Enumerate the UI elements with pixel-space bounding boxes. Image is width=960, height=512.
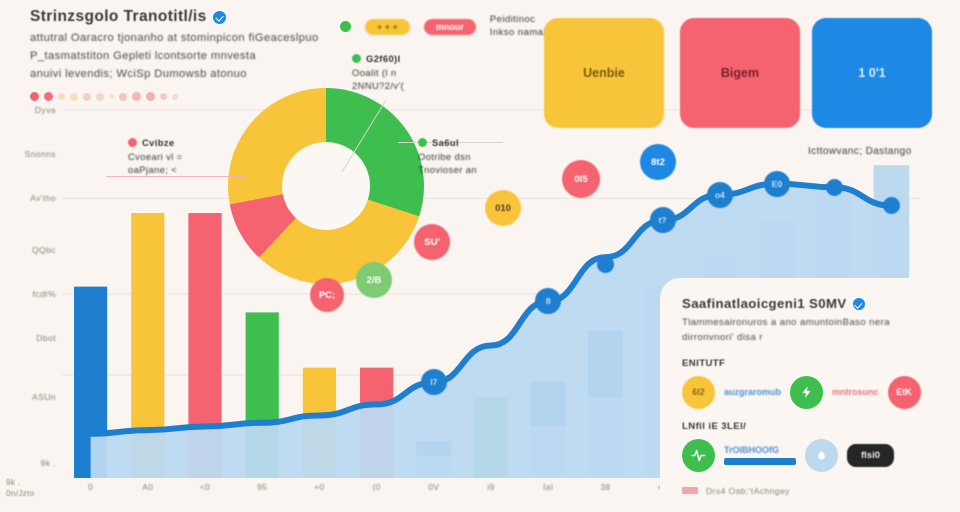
page-title-text: Strinzsgolo Tranotitl/is	[30, 8, 207, 26]
dot-strip-item-8	[132, 92, 141, 101]
dot-strip-item-3	[70, 93, 78, 101]
annotation-bubble-0[interactable]: PC;	[310, 278, 344, 312]
y-tick-label-6: ASUn	[32, 392, 56, 402]
dot-strip-item-4	[83, 93, 91, 101]
kpi-card-yellow[interactable]: Uenbie	[544, 18, 664, 128]
chip-coral[interactable]: EtK	[888, 376, 921, 409]
x-tick-label-9: 38	[600, 482, 610, 492]
x-tick-label-0: 0	[88, 482, 93, 492]
donut-callout-right-title: Sa6ul	[432, 136, 459, 150]
y-tick-label-0: Dyva	[35, 105, 56, 115]
donut-callout-right-header: Sa6ul	[418, 136, 543, 150]
donut-callout-left-line-2: oaPjane; <	[128, 163, 248, 177]
donut-callout-left-title: Cvibze	[142, 136, 175, 150]
y-tick-label-5: Dbot	[36, 333, 56, 343]
page-title: Strinzsgolo Tranotitl/is	[30, 8, 330, 26]
x-tick-label-1: A0	[142, 482, 153, 492]
verified-check-icon	[853, 298, 865, 310]
donut-callout-top-line-2: 2NNU?2/v'(	[352, 79, 462, 93]
summary-group-2-label: LNfil iE 3LEl/	[682, 421, 928, 432]
kpi-card-blue[interactable]: 1 0'1	[812, 18, 932, 128]
donut-callout-right-line-1: Ootribe dsn	[418, 150, 543, 164]
dashboard-canvas: DyvaSnonnsAv'thoQQbcfcdt%DbotASUn9k . 9k…	[0, 0, 960, 512]
annotation-bubble-2[interactable]: SU'	[414, 224, 450, 260]
dot-strip-item-11	[172, 94, 178, 100]
dot-strip-item-10	[160, 93, 167, 100]
x-tick-label-4: +0	[314, 482, 324, 492]
summary-card-title: Saafinatlaoicgeni1 S0MV	[682, 296, 928, 311]
dot-strip-item-0	[30, 92, 39, 101]
header-subtitle-line-1: attutral Oaracro tjonanho at stominpicon…	[30, 32, 330, 44]
tag-dark[interactable]: flsi0	[847, 444, 894, 467]
summary-group-1-row: 6I2auzgraromubmntrosuncEtK	[682, 376, 928, 409]
kpi-caption: Icttowvanc; Dastango	[808, 146, 912, 157]
y-tick-label-4: fcdt%	[33, 289, 57, 299]
annotation-bubble-5[interactable]: 8t2	[640, 144, 676, 180]
summary-group-2-row: TrOIBHOOfGflsi0	[682, 439, 928, 472]
annotation-bubble-3[interactable]: 010	[485, 190, 521, 226]
x-tick-label-3: 95	[257, 482, 267, 492]
dot-strip	[30, 92, 178, 101]
legend-text: Peiditinoc Inkso nama2	[490, 14, 549, 40]
y-tick-label-3: QQbc	[32, 245, 56, 255]
chip-green-bolt[interactable]	[790, 376, 823, 409]
dot-strip-item-7	[119, 93, 127, 101]
annotation-bubble-1[interactable]: 2/B	[356, 262, 392, 298]
y-tick-label-7: 9k .	[41, 458, 56, 468]
x-tick-label-2: <0	[200, 482, 210, 492]
legend-row: + + + mnour Peiditinoc Inkso nama2	[340, 14, 549, 40]
header-subtitle-line-2: P_tasmatstiton Gepleti lcontsorte mnvest…	[30, 50, 330, 62]
chip-green-pulse[interactable]	[682, 439, 715, 472]
donut-callout-top-title: G2f60)l	[366, 52, 401, 66]
donut-callout-left: Cvibze Cvoeari vl = oaPjane; <	[128, 136, 248, 177]
legend-text-line-1: Peiditinoc	[490, 14, 549, 27]
trend-marker-7[interactable]	[883, 197, 900, 214]
x-tick-label-7: i9	[487, 482, 494, 492]
dot-strip-item-5	[96, 93, 104, 101]
chip-label-blue: auzgraromub	[724, 387, 781, 397]
chip-lightblue-drop[interactable]	[805, 439, 838, 472]
summary-card-footer: Drs4 Oab;'tAchngey	[682, 486, 928, 496]
y-tick-label-1: Snonns	[24, 149, 56, 159]
summary-card-title-text: Saafinatlaoicgeni1 S0MV	[682, 296, 847, 311]
progress-label: TrOIBHOOfG	[724, 445, 796, 455]
donut-callout-leader-top	[340, 94, 410, 174]
summary-card: Saafinatlaoicgeni1 S0MV Tlammesaironuros…	[660, 278, 950, 502]
donut-callout-top: G2f60)l Ooalit (l n 2NNU?2/v'(	[352, 52, 462, 93]
progress-meter[interactable]: TrOIBHOOfG	[724, 445, 796, 465]
x-axis-caption: 9k .0n/Jzto	[6, 478, 35, 500]
x-tick-label-5: (0	[372, 482, 380, 492]
dot-strip-item-9	[146, 92, 155, 101]
y-tick-label-2: Av'tho	[30, 193, 56, 203]
donut-callout-right-dot	[418, 138, 427, 147]
chip-yellow[interactable]: 6I2	[682, 376, 715, 409]
summary-group-1-label: ENITUTF	[682, 358, 928, 369]
donut-callout-right: Sa6ul Ootribe dsn Tnovioser an	[418, 136, 543, 177]
trend-marker-6[interactable]	[826, 179, 843, 196]
donut-callout-top-dot	[352, 54, 361, 63]
dot-strip-item-1	[44, 92, 53, 101]
footer-text: Drs4 Oab;'tAchngey	[706, 486, 790, 496]
header-subtitle-line-3: anuivi levendis; WciSp Dumowsb atonuo	[30, 68, 330, 80]
y-axis-labels: DyvaSnonnsAv'thoQQbcfcdt%DbotASUn9k .	[8, 110, 60, 478]
progress-fill	[724, 458, 796, 465]
donut-callout-right-line-2: Tnovioser an	[418, 163, 543, 177]
kpi-card-coral[interactable]: Bigem	[680, 18, 800, 128]
trend-marker-0[interactable]: l7	[421, 369, 447, 395]
trend-marker-5[interactable]: E0	[764, 171, 790, 197]
trend-marker-2[interactable]	[597, 256, 614, 273]
donut-callout-top-line-1: Ooalit (l n	[352, 66, 462, 80]
legend-dot-green	[340, 21, 351, 32]
x-tick-label-8: Ial	[543, 482, 553, 492]
x-axis-caption-bottom: 0n/Jzto	[6, 489, 35, 498]
page-header: Strinzsgolo Tranotitl/is attutral Oaracr…	[30, 8, 330, 80]
annotation-bubble-4[interactable]: 0l5	[562, 160, 600, 198]
donut-callout-left-line-1: Cvoeari vl =	[128, 150, 248, 164]
verified-check-icon	[213, 11, 226, 24]
dot-strip-item-2	[58, 93, 65, 100]
donut-callout-left-header: Cvibze	[128, 136, 248, 150]
legend-pill-coral[interactable]: mnour	[424, 19, 476, 35]
x-tick-label-6: 0V	[428, 482, 439, 492]
summary-body-line-2: dirronvnori' disa r	[682, 331, 928, 345]
chip-label-coral: mntrosunc	[832, 387, 879, 397]
trend-marker-4[interactable]: o4	[707, 182, 733, 208]
trend-marker-3[interactable]: t?	[650, 207, 676, 233]
donut-callout-top-header: G2f60)l	[352, 52, 462, 66]
summary-body-line-1: Tlammesaironuros a ano amuntoinBaso nera	[682, 316, 928, 330]
footer-swatch	[682, 487, 698, 494]
legend-pill-yellow[interactable]: + + +	[365, 19, 410, 35]
dot-strip-item-6	[109, 94, 114, 99]
legend-text-line-2: Inkso nama2	[490, 27, 549, 40]
donut-callout-left-dot	[128, 138, 137, 147]
x-axis-caption-top: 9k .	[6, 478, 21, 487]
